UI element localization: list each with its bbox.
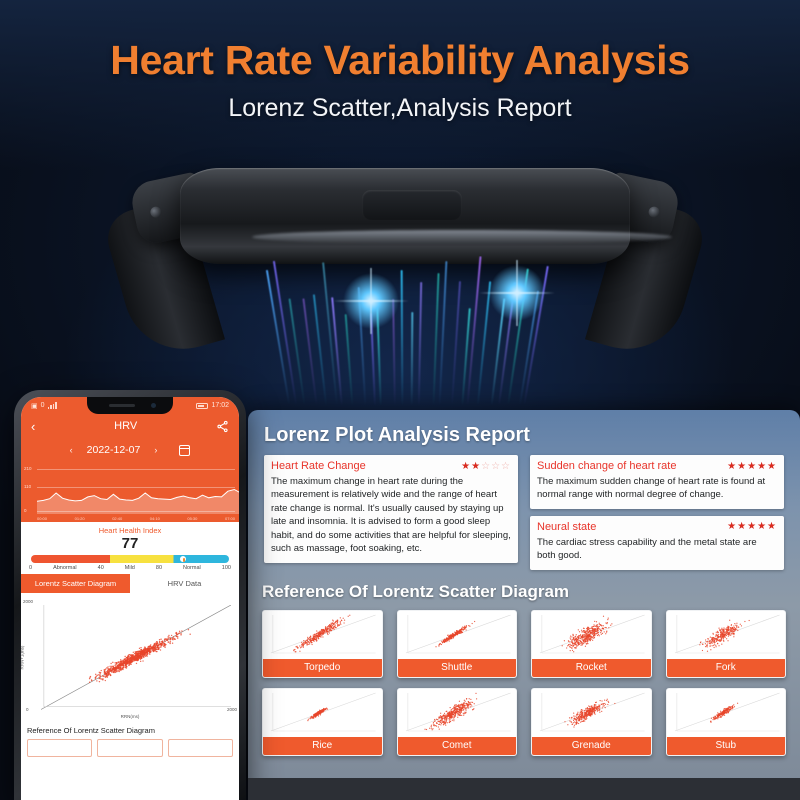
lens-flare-icon bbox=[342, 272, 400, 330]
product-photo-smart-band bbox=[120, 160, 690, 400]
signal-bars-icon bbox=[48, 402, 57, 409]
reference-scatter-thumbnail bbox=[398, 611, 517, 659]
reference-scatter-thumbnail bbox=[263, 611, 382, 659]
hero-titles: Heart Rate Variability Analysis Lorenz S… bbox=[0, 38, 800, 123]
signal-label: 0 bbox=[41, 402, 45, 409]
app-navbar: ‹ HRV bbox=[21, 414, 239, 438]
report-cards-container: Heart Rate Change ★★☆☆☆ The maximum chan… bbox=[248, 455, 800, 570]
scatter-y-axis-label: RRN+1(ms) bbox=[21, 645, 25, 669]
report-card-header: Sudden change of heart rate ★★★★★ bbox=[537, 460, 777, 472]
report-panel-title: Lorenz Plot Analysis Report bbox=[264, 424, 784, 447]
date-selector: ‹ 2022-12-07 › bbox=[21, 438, 239, 462]
health-index-bar bbox=[31, 555, 229, 563]
page-root: Heart Rate Variability Analysis Lorenz S… bbox=[0, 0, 800, 800]
report-card-header: Neural state ★★★★★ bbox=[537, 521, 777, 533]
band-display bbox=[362, 190, 462, 220]
hr-x-tick: 00:00 bbox=[37, 516, 47, 521]
light-beam bbox=[418, 282, 422, 406]
health-index-scale-tick: 0 bbox=[29, 565, 32, 571]
screw-icon bbox=[149, 206, 162, 219]
status-badge-stars: ★★★★★ bbox=[727, 521, 777, 532]
report-panel: Lorenz Plot Analysis Report Heart Rate C… bbox=[248, 410, 800, 785]
health-index-value: 77 bbox=[21, 535, 239, 552]
prev-date-button[interactable]: ‹ bbox=[70, 445, 73, 455]
app-header-area: ▣ 0 17:02 ‹ HRV bbox=[21, 397, 239, 522]
page-subtitle: Lorenz Scatter,Analysis Report bbox=[0, 94, 800, 123]
health-index-label: Heart Health Index bbox=[21, 526, 239, 535]
band-body bbox=[180, 168, 630, 264]
report-card-heart-rate-change[interactable]: Heart Rate Change ★★☆☆☆ The maximum chan… bbox=[264, 455, 518, 563]
reference-card-fork[interactable]: Fork bbox=[666, 610, 787, 678]
reference-card-label: Grenade bbox=[532, 737, 651, 755]
page-title: Heart Rate Variability Analysis bbox=[0, 38, 800, 84]
clock-label: 17:02 bbox=[211, 402, 229, 409]
light-beam bbox=[451, 281, 461, 406]
hr-x-tick: 05:30 bbox=[187, 516, 197, 521]
reference-card-rocket[interactable]: Rocket bbox=[531, 610, 652, 678]
app-title: HRV bbox=[114, 420, 137, 432]
health-index-scale-tick: Normal bbox=[183, 565, 201, 571]
reference-card-comet[interactable]: Comet bbox=[397, 688, 518, 756]
camera-icon bbox=[151, 403, 156, 408]
hr-x-tick: 02:40 bbox=[112, 516, 122, 521]
report-column-left: Heart Rate Change ★★☆☆☆ The maximum chan… bbox=[264, 455, 518, 570]
screw-icon bbox=[648, 206, 661, 219]
reference-card-stub[interactable]: Stub bbox=[666, 688, 787, 756]
reference-card-torpedo[interactable]: Torpedo bbox=[262, 610, 383, 678]
light-beam bbox=[411, 312, 414, 406]
report-card-title: Sudden change of heart rate bbox=[537, 460, 676, 472]
hr-y-tick: 210 bbox=[24, 466, 32, 471]
reference-card-shuttle[interactable]: Shuttle bbox=[397, 610, 518, 678]
lens-flare-icon bbox=[488, 264, 546, 322]
light-beam bbox=[344, 314, 353, 406]
report-card-header: Heart Rate Change ★★☆☆☆ bbox=[271, 460, 511, 472]
report-card-neural-state[interactable]: Neural state ★★★★★ The cardiac stress ca… bbox=[530, 516, 784, 570]
reference-scatter-thumbnail bbox=[398, 689, 517, 737]
health-index-scale-tick: Abnormal bbox=[53, 565, 77, 571]
report-column-right: Sudden change of heart rate ★★★★★ The ma… bbox=[530, 455, 784, 570]
battery-icon bbox=[196, 403, 208, 409]
reference-section: Reference Of Lorentz Scatter Diagram Tor… bbox=[248, 582, 800, 756]
content-tabs: Lorentz Scatter Diagram HRV Data bbox=[21, 574, 239, 593]
heart-rate-trend-chart: 210 110 0 00:0001:2002:4004:1005:3007:00 bbox=[21, 462, 239, 522]
mini-ref-card[interactable] bbox=[97, 739, 162, 757]
reference-card-grenade[interactable]: Grenade bbox=[531, 688, 652, 756]
report-card-body: The maximum sudden change of heart rate … bbox=[537, 475, 777, 502]
mini-ref-card[interactable] bbox=[168, 739, 233, 757]
reference-card-label: Torpedo bbox=[263, 659, 382, 677]
phone-reference-title: Reference Of Lorentz Scatter Diagram bbox=[27, 726, 233, 735]
mini-ref-card[interactable] bbox=[27, 739, 92, 757]
phone-mockup: ▣ 0 17:02 ‹ HRV bbox=[14, 390, 246, 800]
status-bar-right: 17:02 bbox=[196, 402, 229, 409]
reference-card-label: Shuttle bbox=[398, 659, 517, 677]
reference-scatter-thumbnail bbox=[667, 611, 786, 659]
report-card-title: Neural state bbox=[537, 521, 596, 533]
health-index-marker bbox=[179, 555, 187, 563]
reference-grid: TorpedoShuttleRocketForkRiceCometGrenade… bbox=[262, 610, 786, 756]
phone-reference-mini-grid bbox=[27, 739, 233, 757]
reference-scatter-thumbnail bbox=[263, 689, 382, 737]
hr-y-tick: 0 bbox=[24, 508, 27, 513]
status-badge-stars: ★★☆☆☆ bbox=[461, 461, 511, 472]
calendar-icon[interactable] bbox=[179, 445, 190, 456]
phone-reference-footer: Reference Of Lorentz Scatter Diagram bbox=[21, 721, 239, 757]
hr-x-axis: 00:0001:2002:4004:1005:3007:00 bbox=[37, 516, 235, 521]
reference-scatter-thumbnail bbox=[532, 611, 651, 659]
report-card-title: Heart Rate Change bbox=[271, 460, 366, 472]
light-beam bbox=[331, 297, 343, 406]
back-chevron-left-icon[interactable]: ‹ bbox=[31, 420, 35, 433]
report-panel-header: Lorenz Plot Analysis Report bbox=[248, 410, 800, 455]
reference-scatter-thumbnail bbox=[667, 689, 786, 737]
footer-strip bbox=[248, 778, 800, 800]
scatter-plot-area bbox=[41, 605, 231, 710]
hr-x-tick: 07:00 bbox=[225, 516, 235, 521]
health-index-scale-tick: 80 bbox=[156, 565, 162, 571]
health-index-scale-tick: 100 bbox=[222, 565, 231, 571]
reference-card-label: Rocket bbox=[532, 659, 651, 677]
speaker-icon bbox=[109, 404, 135, 407]
reference-section-title: Reference Of Lorentz Scatter Diagram bbox=[262, 582, 786, 602]
hr-x-tick: 01:20 bbox=[75, 516, 85, 521]
reference-card-label: Comet bbox=[398, 737, 517, 755]
health-index-scale-tick: Mild bbox=[125, 565, 135, 571]
tab-hrv-data[interactable]: HRV Data bbox=[130, 574, 239, 593]
scatter-y-min: 0 bbox=[26, 707, 29, 712]
health-index-scale-tick: 40 bbox=[98, 565, 104, 571]
reference-card-label: Stub bbox=[667, 737, 786, 755]
reference-card-label: Rice bbox=[263, 737, 382, 755]
band-highlight bbox=[252, 230, 672, 244]
scatter-x-axis-label: RRN(ms) bbox=[21, 714, 239, 719]
light-beam bbox=[439, 261, 448, 406]
reference-scatter-thumbnail bbox=[532, 689, 651, 737]
next-date-button[interactable]: › bbox=[154, 445, 157, 455]
report-card-body: The cardiac stress capability and the me… bbox=[537, 536, 777, 563]
phone-screen: ▣ 0 17:02 ‹ HRV bbox=[21, 397, 239, 800]
reference-card-label: Fork bbox=[667, 659, 786, 677]
status-bar-left: ▣ 0 bbox=[31, 402, 57, 410]
scatter-y-max: 2000 bbox=[23, 599, 33, 604]
share-icon[interactable] bbox=[216, 420, 229, 433]
current-date-label: 2022-12-07 bbox=[87, 444, 141, 456]
status-bar: ▣ 0 17:02 bbox=[21, 397, 239, 414]
tab-lorentz-scatter-diagram[interactable]: Lorentz Scatter Diagram bbox=[21, 574, 130, 593]
hr-trend-line bbox=[37, 464, 239, 514]
health-index-scale: 0Abnormal40Mild80Normal100 bbox=[29, 565, 231, 571]
light-beam bbox=[289, 298, 306, 405]
hr-x-tick: 04:10 bbox=[150, 516, 160, 521]
phone-notch bbox=[87, 397, 173, 414]
report-card-sudden-change[interactable]: Sudden change of heart rate ★★★★★ The ma… bbox=[530, 455, 784, 509]
light-beam bbox=[400, 270, 403, 406]
reference-card-rice[interactable]: Rice bbox=[262, 688, 383, 756]
sim-icon: ▣ bbox=[31, 402, 38, 410]
heart-health-index-section: Heart Health Index 77 0Abnormal40Mild80N… bbox=[21, 522, 239, 574]
lorentz-scatter-chart: 2000 0 2000 RRN+1(ms) RRN(ms) bbox=[21, 593, 239, 721]
report-card-body: The maximum change in heart rate during … bbox=[271, 475, 511, 556]
status-badge-stars: ★★★★★ bbox=[727, 461, 777, 472]
hr-y-tick: 110 bbox=[24, 484, 31, 489]
